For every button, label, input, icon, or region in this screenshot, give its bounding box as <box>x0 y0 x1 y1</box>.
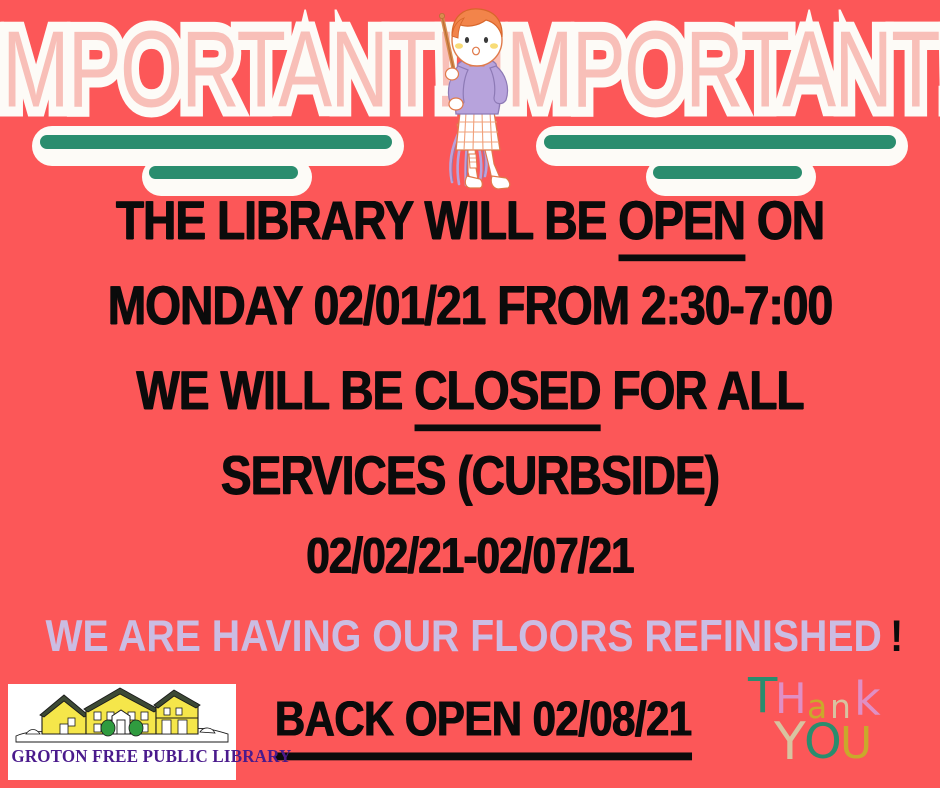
message-line-services: SERVICES (CURBSIDE) <box>28 449 912 504</box>
library-logo-caption: GROTON FREE PUBLIC LIBRARY <box>11 746 232 767</box>
message-line-open-before: THE LIBRARY WILL BE <box>116 191 618 251</box>
important-label-left: IMPORTANT! <box>0 8 455 132</box>
thank-you-graphic: T H a n k Y O U <box>742 670 932 782</box>
message-line-open: THE LIBRARY WILL BE OPEN ON <box>28 194 912 249</box>
message-line-open-after: ON <box>745 191 824 251</box>
message-line-open-emphasis: OPEN <box>618 191 745 262</box>
message-line-dates-text: 02/02/21-02/07/21 <box>306 527 633 584</box>
message-line-closed-before: WE WILL BE <box>136 361 414 421</box>
important-banner-right: IMPORTANT! <box>522 14 922 186</box>
important-banner-left: IMPORTANT! <box>18 14 418 186</box>
message-line-closed-emphasis: CLOSED <box>414 361 600 432</box>
girl-mopping-icon <box>412 4 532 200</box>
thankyou-glyph-t: T <box>748 672 777 720</box>
floors-refinished-exclamation: ! <box>890 612 903 662</box>
important-label-right: IMPORTANT! <box>485 8 940 132</box>
back-open-line: BACK OPEN 02/08/21 <box>248 692 718 753</box>
message-line-closed-after: FOR ALL <box>601 361 804 421</box>
library-notice-poster: IMPORTANT! IMPORTANT! <box>0 0 940 788</box>
thankyou-glyph-u: U <box>840 722 872 766</box>
important-word-left: IMPORTANT! <box>18 14 418 126</box>
library-logo: GROTON FREE PUBLIC LIBRARY <box>8 684 236 780</box>
important-word-right: IMPORTANT! <box>522 14 922 126</box>
banner-rule-long-right <box>544 135 896 149</box>
message-line-services-text: SERVICES (CURBSIDE) <box>221 446 719 506</box>
thankyou-glyph-o: O <box>804 718 842 766</box>
message-block: THE LIBRARY WILL BE OPEN ON MONDAY 02/01… <box>0 192 940 575</box>
message-line-dates: 02/02/21-02/07/21 <box>28 530 912 580</box>
library-building-icon <box>8 684 236 746</box>
message-line-monday-text: MONDAY 02/01/21 FROM 2:30-7:00 <box>108 276 832 336</box>
banner-rule-short-left <box>149 166 298 179</box>
message-line-closed: WE WILL BE CLOSED FOR ALL <box>28 364 912 419</box>
floors-refinished-line: WE ARE HAVING OUR FLOORS REFINISHED! <box>0 612 940 657</box>
back-open-text: BACK OPEN 02/08/21 <box>275 692 692 760</box>
message-line-monday: MONDAY 02/01/21 FROM 2:30-7:00 <box>28 279 912 334</box>
banner-rule-short-right <box>653 166 802 179</box>
banner-rule-long-left <box>40 135 392 149</box>
floors-refinished-text: WE ARE HAVING OUR FLOORS REFINISHED <box>45 612 881 662</box>
thankyou-glyph-k: k <box>854 676 881 722</box>
thankyou-glyph-y: Y <box>774 716 806 768</box>
